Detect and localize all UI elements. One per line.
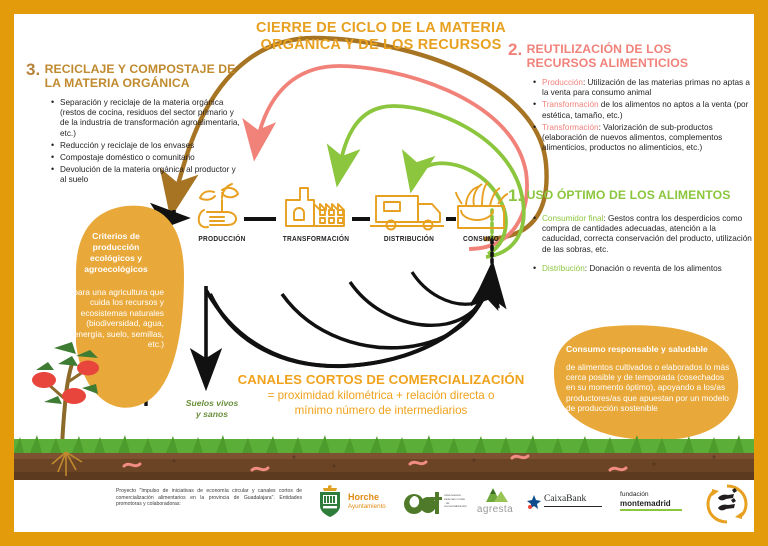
logo-horche-sub: Ayuntamiento [348, 503, 386, 510]
logo-horche-name: Horche [348, 493, 379, 503]
truck-icon [370, 196, 444, 230]
soil-and-grass-band [14, 435, 754, 480]
list-item: Transformación: Valorización de sub-prod… [542, 123, 757, 154]
main-title-line-1: CIERRE DE CICLO DE LA MATERIA [236, 20, 526, 37]
section-2-heading: REUTILIZACIÓN DE LOS RECURSOS ALIMENTICI… [527, 42, 688, 70]
stage-label-consumo: CONSUMO [451, 234, 511, 243]
recycle-hands-icon [704, 482, 750, 526]
arc-short-channel-1 [206, 266, 492, 366]
logo-oct: observatorio · cadenas cortas · de comer… [402, 487, 466, 517]
bullet-lead: Distribución [542, 264, 585, 273]
hand-seedling-icon [199, 184, 238, 227]
section-2-heading-line-2: RECURSOS ALIMENTICIOS [527, 56, 688, 70]
section-3-heading: RECICLAJE Y COMPOSTAJE DE LA MATERIA ORG… [45, 62, 236, 90]
bullet-lead: Consumidor final [542, 214, 603, 223]
section-3-number: 3. [26, 62, 40, 78]
list-item: Reducción y reciclaje de los envases [60, 141, 242, 151]
short-channels-line-1: CANALES CORTOS DE COMERCIALIZACIÓN [236, 372, 526, 388]
logo-monte-underline [620, 509, 682, 511]
list-item: Consumidor final: Gestos contra los desp… [542, 214, 752, 255]
agresta-mountains-icon [466, 486, 524, 504]
bullet-lead: Transformación [542, 123, 599, 132]
section-2-reuse: 2. REUTILIZACIÓN DE LOS RECURSOS ALIMENT… [508, 42, 752, 155]
bullet-text: Reducción y reciclaje de los envases [60, 141, 194, 150]
section-3-heading-line-2: LA MATERIA ORGÁNICA [45, 76, 190, 90]
grocery-bag-icon [456, 182, 508, 228]
soil-note: Suelos vivos y sanos [168, 398, 256, 419]
logo-caixabank-name: CaixaBank [544, 494, 586, 504]
section-2-bullet-list: Producción: Utilización de las materias … [528, 78, 757, 153]
main-title-line-2: ORGÁNICA Y DE LOS RECURSOS [236, 37, 526, 54]
footer-disclaimer: Proyecto "Impulso de iniciativas de econ… [116, 488, 302, 508]
section-2-heading-line-1: REUTILIZACIÓN DE LOS [527, 42, 672, 56]
stage-label-transformacion: TRANSFORMACIÓN [276, 234, 357, 243]
stage-label-distribucion: DISTRIBUCIÓN [370, 234, 447, 243]
factory-icon [286, 188, 344, 226]
logo-agresta-name: agresta [466, 504, 524, 515]
soil-note-line-2: y sanos [168, 409, 256, 420]
bullet-lead: Transformación [542, 100, 599, 109]
soil-note-line-1: Suelos vivos [168, 398, 256, 409]
bullet-lead: Producción [542, 78, 583, 87]
logo-monte-line-2: montemadrid [620, 499, 671, 508]
horche-shield-icon [314, 485, 346, 519]
logo-horche-ayuntamiento: Horche Ayuntamiento [314, 485, 400, 519]
consumption-callout-title: Consumo responsable y saludable [566, 344, 726, 355]
section-3-bullet-list: Separación y reciclaje de la materia org… [46, 98, 242, 186]
logo-agresta: agresta [466, 486, 524, 518]
consumption-callout-body: de alimentos cultivados o elaborados lo … [566, 362, 732, 413]
section-2-number: 2. [508, 42, 522, 58]
logo-caixabank: CaixaBank [526, 494, 606, 512]
list-item: Compostaje doméstico o comunitario [60, 153, 242, 163]
logo-monte-line-1: fundación [620, 491, 649, 499]
logo-fundacion-montemadrid: fundación montemadrid [620, 491, 708, 515]
arc-short-channel-arrows [210, 268, 493, 366]
short-channels-statement: CANALES CORTOS DE COMERCIALIZACIÓN = pro… [236, 372, 526, 418]
list-item: Distribución: Donación o reventa de los … [542, 264, 752, 274]
logo-oct-caption: observatorio · cadenas cortas · de comer… [444, 494, 466, 509]
section-3-recycling: 3. RECICLAJE Y COMPOSTAJE DE LA MATERIA … [26, 62, 246, 188]
footer: Proyecto "Impulso de iniciativas de econ… [14, 480, 754, 532]
stage-label-produccion: PRODUCCIÓN [189, 234, 254, 243]
section-1-optimal-use: 1. USO ÓPTIMO DE LOS ALIMENTOS Consumido… [508, 188, 756, 277]
infographic-poster: PRODUCCIÓN TRANSFORMACIÓN DISTRIBUCIÓN C… [0, 0, 768, 546]
section-1-heading: USO ÓPTIMO DE LOS ALIMENTOS [527, 188, 731, 202]
recycle-hands-glyph [704, 482, 750, 526]
bullet-text: Devolución de la materia orgánica al pro… [60, 165, 236, 184]
section-1-bullet-list: Consumidor final: Gestos contra los desp… [528, 214, 752, 274]
list-item: Transformación de los alimentos no aptos… [542, 100, 757, 120]
list-item: Devolución de la materia orgánica al pro… [60, 165, 242, 185]
logo-caixabank-underline [544, 506, 602, 507]
criteria-callout: Criterios de producción ecológicos y agr… [62, 205, 170, 400]
short-channels-line-3: mínimo número de intermediarios [236, 403, 526, 418]
section-1-number: 1. [508, 188, 522, 204]
criteria-callout-title: Criterios de producción ecológicos y agr… [70, 231, 162, 275]
short-channels-line-2: = proximidad kilométrica + relación dire… [236, 388, 526, 403]
bullet-text: Compostaje doméstico o comunitario [60, 153, 195, 162]
bullet-text: : Donación o reventa de los alimentos [585, 264, 722, 273]
list-item: Producción: Utilización de las materias … [542, 78, 757, 98]
section-3-heading-line-1: RECICLAJE Y COMPOSTAJE DE [45, 62, 236, 76]
list-item: Separación y reciclaje de la materia org… [60, 98, 242, 139]
caixabank-star-icon [526, 494, 542, 510]
section-1-heading-line-1: USO ÓPTIMO DE LOS ALIMENTOS [527, 188, 731, 202]
consumption-callout: Consumo responsable y saludable de alime… [540, 322, 736, 436]
bullet-text: Separación y reciclaje de la materia org… [60, 98, 240, 138]
criteria-callout-body: para una agricultura que cuida los recur… [68, 287, 164, 349]
poster-main-title: CIERRE DE CICLO DE LA MATERIA ORGÁNICA Y… [236, 20, 526, 54]
oct-leaf-icon [402, 487, 444, 517]
